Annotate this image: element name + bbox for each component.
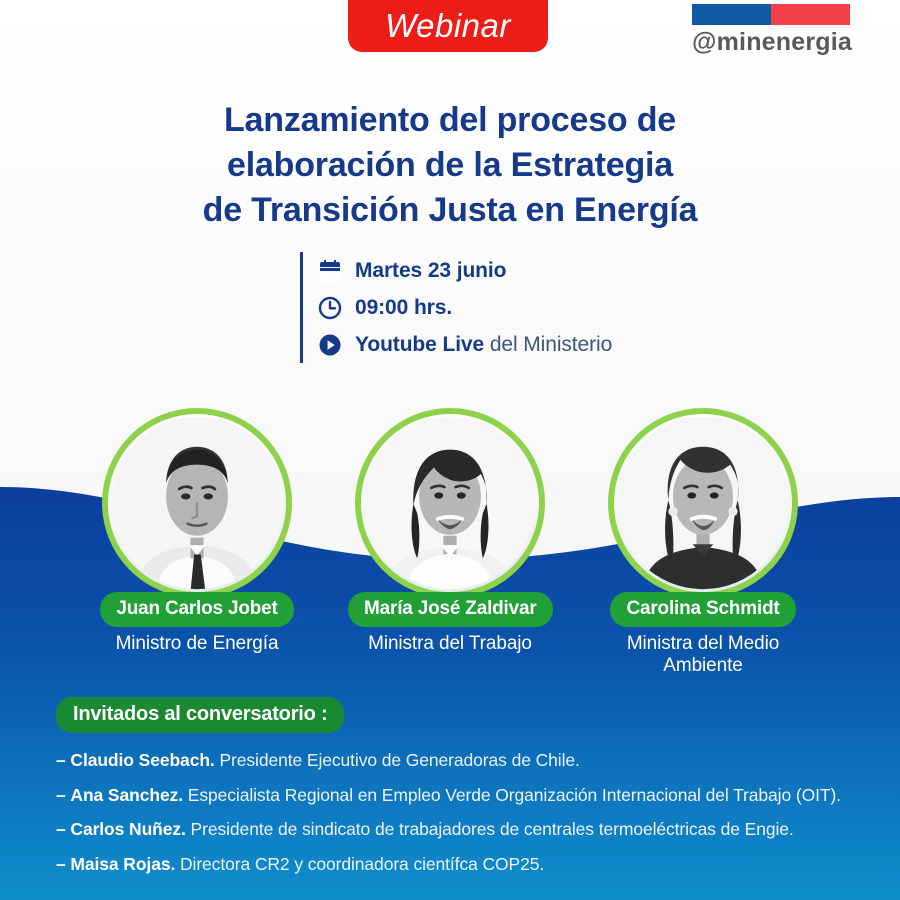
guest-name: Ana Sanchez. xyxy=(70,785,183,805)
guest-desc: Presidente Ejecutivo de Generadoras de C… xyxy=(215,750,580,770)
guest-desc: Especialista Regional en Empleo Verde Or… xyxy=(183,785,841,805)
webinar-badge-label: Webinar xyxy=(385,7,511,45)
guest-desc: Directora CR2 y coordinadora científca C… xyxy=(175,854,544,874)
guest-dash: – xyxy=(56,750,66,770)
speaker-role: Ministra del Trabajo xyxy=(348,633,552,655)
title-line-3: de Transición Justa en Energía xyxy=(0,188,900,233)
guest-name: Claudio Seebach. xyxy=(70,750,214,770)
guest-dash: – xyxy=(56,785,66,805)
avatar xyxy=(355,408,545,598)
event-detail-time: 09:00 hrs. xyxy=(317,289,612,326)
event-detail-date: Martes 23 junio xyxy=(317,252,612,289)
guest-name: Carlos Nuñez. xyxy=(70,819,185,839)
clock-icon xyxy=(317,295,343,321)
page-title: Lanzamiento del proceso de elaboración d… xyxy=(0,98,900,234)
title-line-1: Lanzamiento del proceso de xyxy=(0,98,900,143)
play-circle-icon xyxy=(317,332,343,358)
minenergia-logo: @minenergia xyxy=(692,4,852,55)
guests-heading-badge: Invitados al conversatorio : xyxy=(56,697,344,733)
avatar xyxy=(102,408,292,598)
social-handle: @minenergia xyxy=(692,30,852,55)
list-item: – Carlos Nuñez. Presidente de sindicato … xyxy=(56,818,856,842)
list-item: – Claudio Seebach. Presidente Ejecutivo … xyxy=(56,749,856,773)
calendar-icon xyxy=(317,258,343,284)
list-item: – Maisa Rojas. Directora CR2 y coordinad… xyxy=(56,853,856,877)
guest-desc: Presidente de sindicato de trabajadores … xyxy=(186,819,794,839)
event-details: Martes 23 junio 09:00 hrs. Youtube Live … xyxy=(300,252,612,363)
speaker-role: Ministro de Energía xyxy=(95,633,299,655)
speaker-name-badge: Carolina Schmidt xyxy=(610,592,795,627)
guest-name: Maisa Rojas. xyxy=(70,854,175,874)
speaker-card: Juan Carlos Jobet Ministro de Energía xyxy=(95,408,299,678)
platform-name: Youtube Live xyxy=(355,333,484,356)
platform-suffix: del Ministerio xyxy=(484,333,612,356)
event-time-label: 09:00 hrs. xyxy=(355,296,452,320)
webinar-poster: Webinar @minenergia Lanzamiento del proc… xyxy=(0,0,900,900)
title-line-2: elaboración de la Estrategia xyxy=(0,143,900,188)
chile-flag-icon xyxy=(692,4,850,25)
guest-dash: – xyxy=(56,819,66,839)
webinar-badge: Webinar xyxy=(348,0,548,52)
avatar xyxy=(608,408,798,598)
speaker-role: Ministra del Medio Ambiente xyxy=(601,633,805,678)
speaker-name-badge: Juan Carlos Jobet xyxy=(100,592,293,627)
list-item: – Ana Sanchez. Especialista Regional en … xyxy=(56,784,856,808)
event-date-label: Martes 23 junio xyxy=(355,259,506,283)
speaker-name-badge: María José Zaldivar xyxy=(348,592,553,627)
guest-dash: – xyxy=(56,854,66,874)
event-detail-platform: Youtube Live del Ministerio xyxy=(317,326,612,363)
speaker-card: Carolina Schmidt Ministra del Medio Ambi… xyxy=(601,408,805,678)
guests-list: – Claudio Seebach. Presidente Ejecutivo … xyxy=(56,749,856,877)
guests-section: Invitados al conversatorio : – Claudio S… xyxy=(56,697,856,888)
event-platform-label: Youtube Live del Ministerio xyxy=(355,333,612,357)
speaker-card: María José Zaldivar Ministra del Trabajo xyxy=(348,408,552,678)
speakers-row: Juan Carlos Jobet Ministro de Energía xyxy=(0,408,900,678)
